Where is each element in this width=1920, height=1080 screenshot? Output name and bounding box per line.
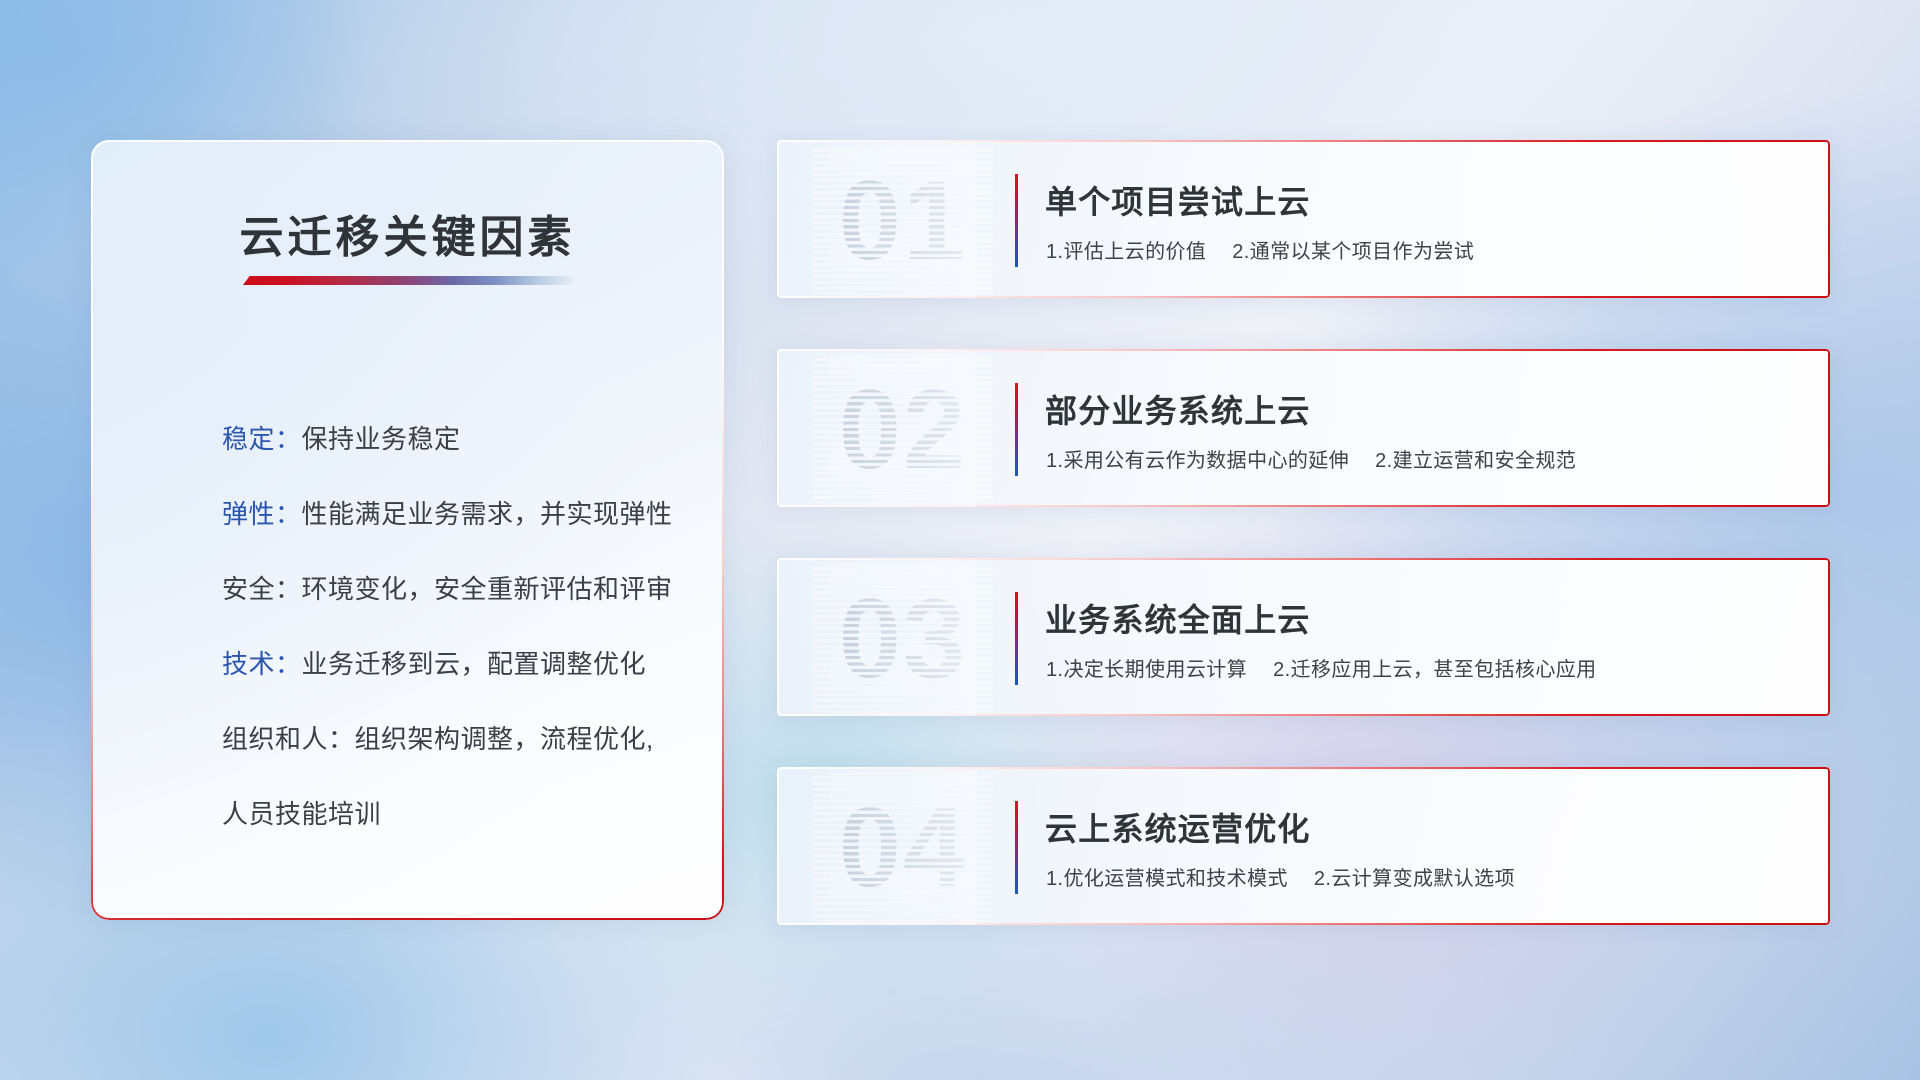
list-item-text: 业务迁移到云，配置调整优化	[302, 649, 647, 679]
card-point-2: 2.建立运营和安全规范	[1375, 450, 1576, 472]
list-item-label: 安全：	[222, 574, 302, 604]
list-item: 稳定：保持业务稳定	[222, 426, 690, 452]
list-item-text: 组织架构调整，流程优化,	[355, 724, 654, 754]
stage-card[interactable]: 03 业务系统全面上云 1.决定长期使用云计算2.迁移应用上云，甚至包括核心应用	[777, 558, 1830, 716]
card-watermark-number: 01	[813, 146, 993, 294]
list-item: 技术：业务迁移到云，配置调整优化	[222, 651, 690, 677]
card-watermark-number: 02	[813, 355, 993, 503]
list-item-text: 性能满足业务需求，并实现弹性	[302, 499, 673, 529]
stage-card[interactable]: 02 部分业务系统上云 1.采用公有云作为数据中心的延伸2.建立运营和安全规范	[777, 349, 1830, 507]
card-title: 单个项目尝试上云	[1045, 177, 1311, 223]
card-point-1: 1.决定长期使用云计算	[1046, 659, 1247, 681]
card-point-2: 2.迁移应用上云，甚至包括核心应用	[1273, 659, 1596, 681]
list-item-label: 稳定：	[222, 424, 302, 454]
card-point-2: 2.云计算变成默认选项	[1314, 868, 1515, 890]
list-item-text: 环境变化，安全重新评估和评审	[302, 574, 673, 604]
list-item: 弹性：性能满足业务需求，并实现弹性	[222, 501, 690, 527]
list-item-text: 人员技能培训	[222, 799, 381, 829]
card-watermark-number: 04	[813, 773, 993, 921]
card-title: 部分业务系统上云	[1045, 386, 1311, 432]
card-subtitle: 1.决定长期使用云计算2.迁移应用上云，甚至包括核心应用	[1046, 653, 1597, 682]
card-accent-divider	[1015, 174, 1018, 267]
card-accent-divider	[1015, 801, 1018, 894]
card-subtitle: 1.优化运营模式和技术模式2.云计算变成默认选项	[1046, 862, 1515, 891]
list-item-label: 技术：	[222, 649, 302, 679]
card-subtitle: 1.评估上云的价值2.通常以某个项目作为尝试	[1046, 235, 1474, 264]
list-item-text: 保持业务稳定	[302, 424, 461, 454]
stage-card[interactable]: 01 单个项目尝试上云 1.评估上云的价值2.通常以某个项目作为尝试	[777, 140, 1830, 298]
key-factors-panel: 云迁移关键因素 稳定：保持业务稳定 弹性：性能满足业务需求，并实现弹性 安全：环…	[91, 140, 724, 920]
card-point-1: 1.优化运营模式和技术模式	[1046, 868, 1288, 890]
card-title: 云上系统运营优化	[1045, 804, 1311, 850]
card-point-2: 2.通常以某个项目作为尝试	[1232, 241, 1474, 263]
card-subtitle: 1.采用公有云作为数据中心的延伸2.建立运营和安全规范	[1046, 444, 1576, 473]
card-accent-divider	[1015, 383, 1018, 476]
list-item: 人员技能培训	[222, 801, 690, 827]
list-item: 安全：环境变化，安全重新评估和评审	[222, 576, 690, 602]
list-item: 组织和人：组织架构调整，流程优化,	[222, 726, 690, 752]
card-watermark-number: 03	[813, 564, 993, 712]
card-accent-divider	[1015, 592, 1018, 685]
card-point-1: 1.评估上云的价值	[1046, 241, 1206, 263]
list-item-label: 组织和人：	[222, 724, 355, 754]
card-point-1: 1.采用公有云作为数据中心的延伸	[1046, 450, 1349, 472]
card-title: 业务系统全面上云	[1045, 595, 1311, 641]
migration-stage-cards: 01 单个项目尝试上云 1.评估上云的价值2.通常以某个项目作为尝试 02 部分…	[777, 140, 1830, 925]
slide-stage: 云迁移关键因素 稳定：保持业务稳定 弹性：性能满足业务需求，并实现弹性 安全：环…	[0, 0, 1920, 1080]
page-title: 云迁移关键因素	[91, 201, 724, 265]
list-item-label: 弹性：	[222, 499, 302, 529]
key-factors-list: 稳定：保持业务稳定 弹性：性能满足业务需求，并实现弹性 安全：环境变化，安全重新…	[222, 426, 690, 827]
stage-card[interactable]: 04 云上系统运营优化 1.优化运营模式和技术模式2.云计算变成默认选项	[777, 767, 1830, 925]
title-underline-accent	[243, 276, 578, 285]
